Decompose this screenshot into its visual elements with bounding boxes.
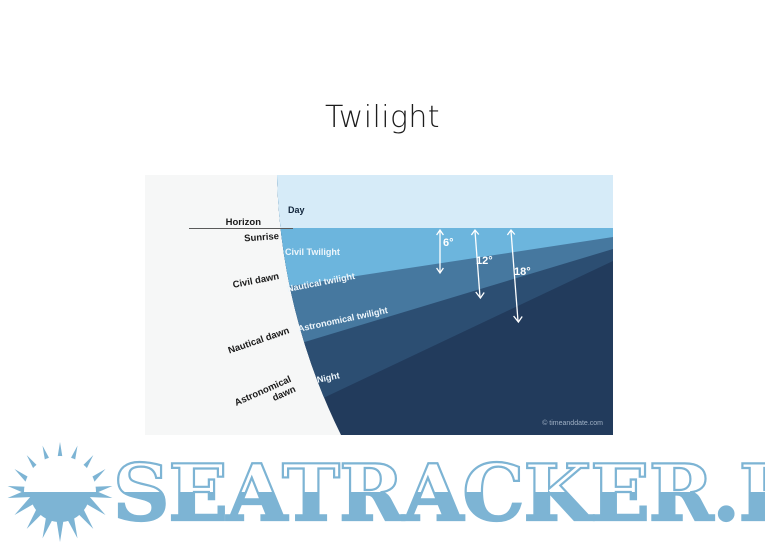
watermark-wordmark: SEATRACKER.RU SEATRACKER.RU: [0, 432, 765, 546]
page-title: Twilight: [0, 100, 765, 135]
watermark-text-outline: SEATRACKER.RU: [113, 448, 765, 539]
watermark-text-wrap: SEATRACKER.RU SEATRACKER.RU: [0, 432, 765, 546]
twilight-diagram-svg: [145, 175, 613, 435]
page-root: Twilight: [0, 0, 765, 546]
watermark: SEATRACKER.RU SEATRACKER.RU: [0, 432, 765, 546]
twilight-diagram: Horizon Sunrise Civil dawn Nautical dawn…: [145, 175, 613, 435]
band-day: [245, 175, 613, 228]
angle-label-6: 6°: [443, 237, 454, 249]
angle-label-18: 18°: [514, 266, 531, 278]
angle-label-12: 12°: [476, 255, 493, 267]
diagram-credit: © timeanddate.com: [542, 420, 603, 427]
